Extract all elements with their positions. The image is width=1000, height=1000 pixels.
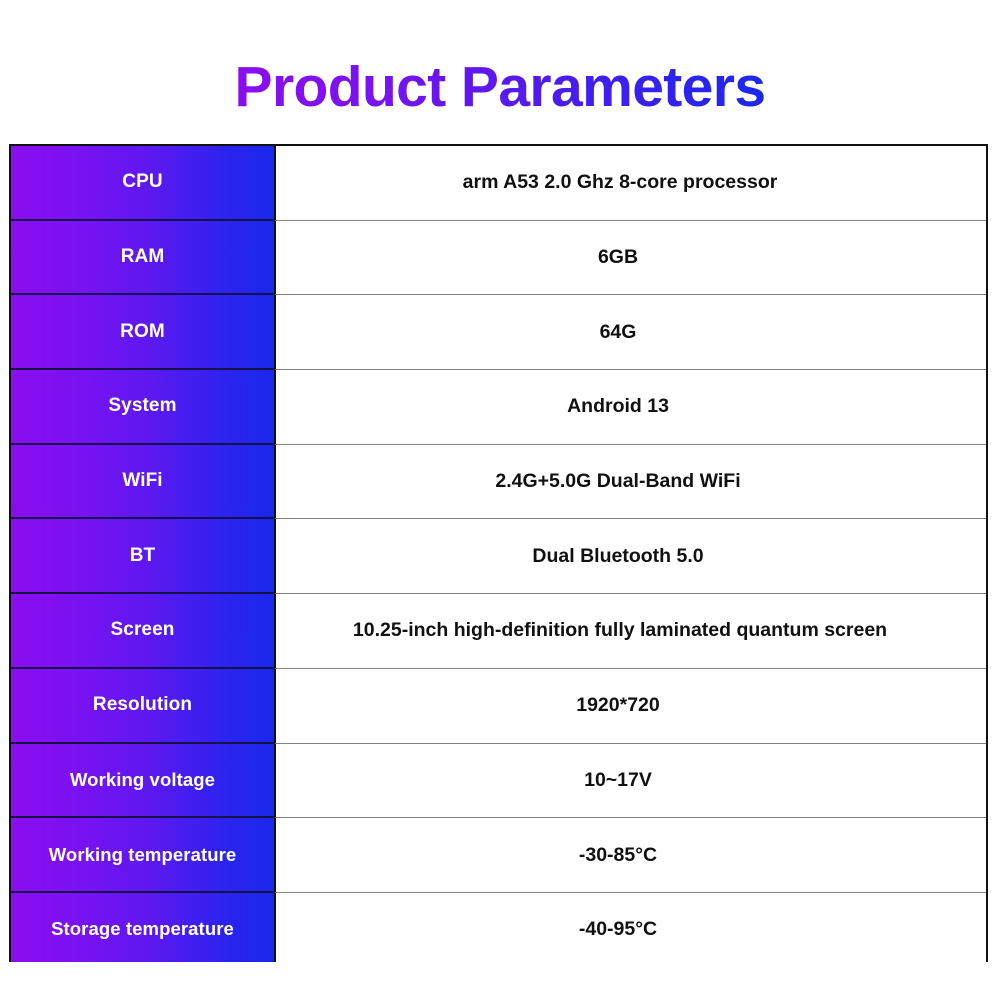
spec-value-cell: 6GB [274,221,986,296]
spec-label-cell: Working voltage [11,744,274,819]
specifications-table: CPUarm A53 2.0 Ghz 8-core processorRAM6G… [9,144,988,962]
spec-value-cell: Dual Bluetooth 5.0 [274,519,986,594]
spec-label-cell: RAM [11,221,274,296]
spec-value-text: 6GB [598,246,638,269]
product-parameters-page: Product Parameters CPUarm A53 2.0 Ghz 8-… [0,0,1000,1000]
spec-value-cell: Android 13 [274,370,986,445]
table-row: Storage temperature-40-95°C [11,893,986,962]
table-row: WiFi2.4G+5.0G Dual-Band WiFi [11,445,986,520]
table-row: SystemAndroid 13 [11,370,986,445]
page-title: Product Parameters [235,59,766,116]
spec-value-text: Dual Bluetooth 5.0 [532,545,703,568]
table-row: Working temperature-30-85°C [11,818,986,893]
spec-value-text: 10~17V [584,769,652,792]
table-row: ROM64G [11,295,986,370]
spec-value-text: 1920*720 [576,694,660,717]
table-row: BTDual Bluetooth 5.0 [11,519,986,594]
spec-value-cell: 2.4G+5.0G Dual-Band WiFi [274,445,986,520]
spec-value-cell: -40-95°C [274,893,986,962]
spec-value-text: 64G [600,321,637,344]
page-title-container: Product Parameters [0,46,1000,128]
spec-value-text: -30-85°C [579,844,657,867]
spec-value-cell: arm A53 2.0 Ghz 8-core processor [274,146,986,221]
spec-value-cell: 1920*720 [274,669,986,744]
table-row: Resolution1920*720 [11,669,986,744]
spec-value-text: arm A53 2.0 Ghz 8-core processor [463,171,778,194]
spec-label-cell: System [11,370,274,445]
table-row: Screen10.25-inch high-definition fully l… [11,594,986,669]
spec-value-cell: 10.25-inch high-definition fully laminat… [274,594,986,669]
spec-value-cell: 64G [274,295,986,370]
table-row: RAM6GB [11,221,986,296]
table-row: Working voltage10~17V [11,744,986,819]
spec-value-cell: -30-85°C [274,818,986,893]
spec-label-cell: ROM [11,295,274,370]
table-row: CPUarm A53 2.0 Ghz 8-core processor [11,146,986,221]
spec-label-cell: Storage temperature [11,893,274,962]
spec-label-cell: Resolution [11,669,274,744]
spec-value-text: -40-95°C [579,918,657,941]
spec-value-cell: 10~17V [274,744,986,819]
spec-value-text: 10.25-inch high-definition fully laminat… [353,619,887,642]
spec-label-cell: BT [11,519,274,594]
spec-label-cell: WiFi [11,445,274,520]
spec-label-cell: Screen [11,594,274,669]
spec-label-cell: Working temperature [11,818,274,893]
spec-value-text: 2.4G+5.0G Dual-Band WiFi [495,470,740,493]
spec-label-cell: CPU [11,146,274,221]
spec-value-text: Android 13 [567,395,669,418]
